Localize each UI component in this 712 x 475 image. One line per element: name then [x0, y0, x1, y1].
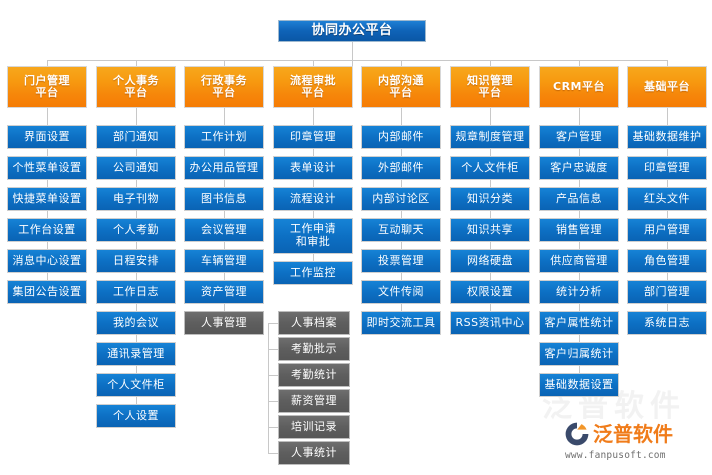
connector-line: [47, 108, 48, 125]
connector-line: [268, 323, 269, 453]
item-我的会议[interactable]: 我的会议: [96, 311, 176, 335]
connector-line: [136, 335, 137, 342]
category-header-CRM平台[interactable]: CRM平台: [539, 66, 619, 108]
connector-line: [579, 273, 580, 280]
item-部门管理[interactable]: 部门管理: [627, 280, 707, 304]
item-工作计划[interactable]: 工作计划: [184, 125, 264, 149]
sub-item-薪资管理[interactable]: 薪资管理: [278, 389, 350, 413]
connector-line: [224, 242, 225, 249]
item-内部邮件[interactable]: 内部邮件: [361, 125, 441, 149]
connector-line: [490, 180, 491, 187]
connector-line: [136, 108, 137, 125]
connector-line: [313, 108, 314, 125]
connector-line: [224, 211, 225, 218]
item-基础数据维护[interactable]: 基础数据维护: [627, 125, 707, 149]
sub-item-人事统计[interactable]: 人事统计: [278, 441, 350, 465]
item-规章制度管理[interactable]: 规章制度管理: [450, 125, 530, 149]
item-办公用品管理[interactable]: 办公用品管理: [184, 156, 264, 180]
item-人事管理[interactable]: 人事管理: [184, 311, 264, 335]
connector-line: [47, 149, 48, 156]
org-chart-canvas: 泛普软件 协同办公平台门户管理 平台界面设置个性菜单设置快捷菜单设置工作台设置消…: [0, 0, 712, 475]
company-logo: 泛普软件 www.fanpusoft.com: [564, 415, 704, 467]
item-流程设计[interactable]: 流程设计: [273, 187, 353, 211]
connector-line: [224, 149, 225, 156]
connector-line: [313, 180, 314, 187]
connector-line: [268, 453, 278, 454]
item-客户管理[interactable]: 客户管理: [539, 125, 619, 149]
connector-line: [401, 273, 402, 280]
item-网络硬盘[interactable]: 网络硬盘: [450, 249, 530, 273]
connector-line: [224, 108, 225, 125]
item-客户属性统计[interactable]: 客户属性统计: [539, 311, 619, 335]
item-知识分类[interactable]: 知识分类: [450, 187, 530, 211]
connector-line: [579, 335, 580, 342]
connector-line: [401, 242, 402, 249]
category-header-内部沟通平台[interactable]: 内部沟通 平台: [361, 66, 441, 108]
connector-line: [224, 180, 225, 187]
connector-line: [579, 242, 580, 249]
connector-line: [136, 180, 137, 187]
item-个人考勤[interactable]: 个人考勤: [96, 218, 176, 242]
item-资产管理[interactable]: 资产管理: [184, 280, 264, 304]
connector-line: [667, 211, 668, 218]
connector-line: [667, 242, 668, 249]
item-工作申请和审批[interactable]: 工作申请 和审批: [273, 218, 353, 254]
item-内部讨论区[interactable]: 内部讨论区: [361, 187, 441, 211]
connector-line: [313, 149, 314, 156]
logo-url: www.fanpusoft.com: [565, 450, 666, 461]
sub-item-培训记录[interactable]: 培训记录: [278, 415, 350, 439]
connector-line: [47, 180, 48, 187]
item-图书信息[interactable]: 图书信息: [184, 187, 264, 211]
item-销售管理[interactable]: 销售管理: [539, 218, 619, 242]
connector-line: [136, 304, 137, 311]
connector-line: [224, 304, 225, 311]
sub-item-考勤统计[interactable]: 考勤统计: [278, 363, 350, 387]
connector-line: [490, 211, 491, 218]
connector-line: [579, 108, 580, 125]
connector-line: [136, 242, 137, 249]
connector-line: [667, 180, 668, 187]
connector-line: [579, 304, 580, 311]
item-印章管理[interactable]: 印章管理: [273, 125, 353, 149]
sub-item-人事档案[interactable]: 人事档案: [278, 311, 350, 335]
sub-item-考勤批示[interactable]: 考勤批示: [278, 337, 350, 361]
connector-line: [667, 304, 668, 311]
item-投票管理[interactable]: 投票管理: [361, 249, 441, 273]
item-产品信息[interactable]: 产品信息: [539, 187, 619, 211]
category-header-个人事务平台[interactable]: 个人事务 平台: [96, 66, 176, 108]
connector-line: [268, 427, 278, 428]
item-知识共享[interactable]: 知识共享: [450, 218, 530, 242]
item-表单设计[interactable]: 表单设计: [273, 156, 353, 180]
item-供应商管理[interactable]: 供应商管理: [539, 249, 619, 273]
item-基础数据设置[interactable]: 基础数据设置: [539, 373, 619, 397]
item-车辆管理[interactable]: 车辆管理: [184, 249, 264, 273]
item-工作台设置[interactable]: 工作台设置: [7, 218, 87, 242]
item-界面设置[interactable]: 界面设置: [7, 125, 87, 149]
connector-line: [490, 108, 491, 125]
connector-line: [268, 349, 278, 350]
item-权限设置[interactable]: 权限设置: [450, 280, 530, 304]
item-通讯录管理[interactable]: 通讯录管理: [96, 342, 176, 366]
item-互动聊天[interactable]: 互动聊天: [361, 218, 441, 242]
item-个人文件柜[interactable]: 个人文件柜: [96, 373, 176, 397]
fanpu-swirl-icon: [564, 421, 590, 447]
category-header-知识管理平台[interactable]: 知识管理 平台: [450, 66, 530, 108]
connector-line: [136, 397, 137, 404]
connector-line: [136, 366, 137, 373]
category-header-基础平台[interactable]: 基础平台: [627, 66, 707, 108]
connector-line: [47, 242, 48, 249]
connector-line: [667, 108, 668, 125]
connector-line: [490, 273, 491, 280]
item-文件传阅[interactable]: 文件传阅: [361, 280, 441, 304]
item-个人文件柜[interactable]: 个人文件柜: [450, 156, 530, 180]
connector-line: [268, 323, 278, 324]
connector-line: [268, 401, 278, 402]
item-个人设置[interactable]: 个人设置: [96, 404, 176, 428]
item-外部邮件[interactable]: 外部邮件: [361, 156, 441, 180]
item-用户管理[interactable]: 用户管理: [627, 218, 707, 242]
connector-line: [313, 254, 314, 261]
connector-line: [490, 242, 491, 249]
item-工作监控[interactable]: 工作监控: [273, 261, 353, 285]
connector-line: [47, 60, 667, 61]
connector-line: [579, 180, 580, 187]
connector-line: [490, 304, 491, 311]
connector-line: [313, 211, 314, 218]
connector-line: [401, 211, 402, 218]
category-header-流程审批平台[interactable]: 流程审批 平台: [273, 66, 353, 108]
item-公司通知[interactable]: 公司通知: [96, 156, 176, 180]
item-消息中心设置[interactable]: 消息中心设置: [7, 249, 87, 273]
connector-line: [667, 273, 668, 280]
connector-line: [136, 149, 137, 156]
item-印章管理[interactable]: 印章管理: [627, 156, 707, 180]
connector-line: [667, 149, 668, 156]
item-角色管理[interactable]: 角色管理: [627, 249, 707, 273]
item-个性菜单设置[interactable]: 个性菜单设置: [7, 156, 87, 180]
item-部门通知[interactable]: 部门通知: [96, 125, 176, 149]
connector-line: [579, 149, 580, 156]
item-客户归属统计[interactable]: 客户归属统计: [539, 342, 619, 366]
item-红头文件[interactable]: 红头文件: [627, 187, 707, 211]
connector-line: [401, 149, 402, 156]
item-电子刊物[interactable]: 电子刊物: [96, 187, 176, 211]
connector-line: [401, 180, 402, 187]
item-会议管理[interactable]: 会议管理: [184, 218, 264, 242]
connector-line: [490, 149, 491, 156]
connector-line: [136, 211, 137, 218]
item-系统日志[interactable]: 系统日志: [627, 311, 707, 335]
connector-line: [579, 366, 580, 373]
connector-line: [268, 375, 278, 376]
root-node-title[interactable]: 协同办公平台: [278, 20, 426, 42]
item-工作日志[interactable]: 工作日志: [96, 280, 176, 304]
item-客户忠诚度[interactable]: 客户忠诚度: [539, 156, 619, 180]
item-统计分析[interactable]: 统计分析: [539, 280, 619, 304]
category-header-门户管理平台[interactable]: 门户管理 平台: [7, 66, 87, 108]
logo-company-name: 泛普软件: [593, 424, 673, 444]
item-RSS资讯中心[interactable]: RSS资讯中心: [450, 311, 530, 335]
item-集团公告设置[interactable]: 集团公告设置: [7, 280, 87, 304]
connector-line: [401, 108, 402, 125]
connector-line: [136, 273, 137, 280]
connector-line: [579, 211, 580, 218]
connector-line: [47, 211, 48, 218]
logo-row: 泛普软件: [564, 421, 673, 447]
connector-line: [224, 273, 225, 280]
item-即时交流工具[interactable]: 即时交流工具: [361, 311, 441, 335]
item-日程安排[interactable]: 日程安排: [96, 249, 176, 273]
category-header-行政事务平台[interactable]: 行政事务 平台: [184, 66, 264, 108]
connector-line: [401, 304, 402, 311]
item-快捷菜单设置[interactable]: 快捷菜单设置: [7, 187, 87, 211]
connector-line: [47, 273, 48, 280]
